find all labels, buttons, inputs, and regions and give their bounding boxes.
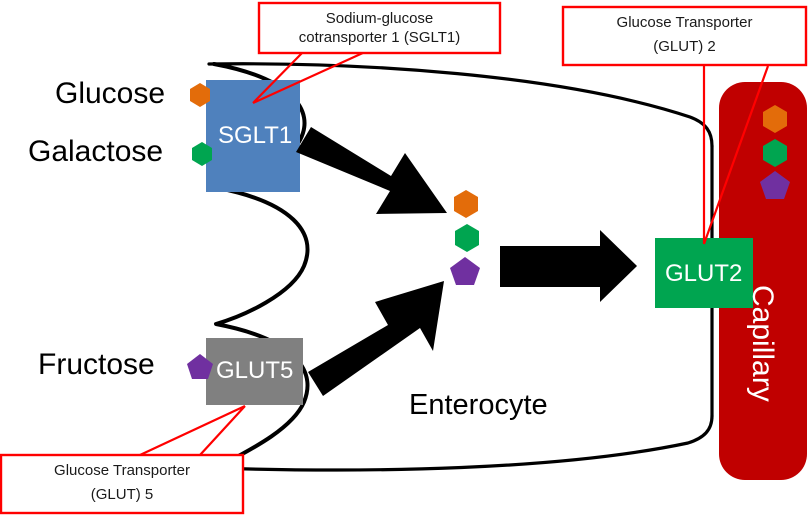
transporter-label-sglt1: SGLT1 (218, 122, 292, 150)
transporter-label-glut5: GLUT5 (216, 357, 293, 385)
substrate-label-fructose: Fructose (38, 348, 155, 382)
glut2-callout-line1: Glucose Transporter (565, 13, 804, 33)
sglt1-callout-line1: Sodium-glucose (261, 9, 498, 29)
transporter-label-glut2: GLUT2 (665, 260, 742, 288)
arrow-cytosol-to-glut2 (500, 230, 637, 302)
arrow-glut5-to-cytosol (308, 281, 444, 396)
glut2-callout-line2: (GLUT) 2 (565, 37, 804, 57)
glut5-callout-line1: Glucose Transporter (3, 461, 241, 481)
substrate-label-galactose: Galactose (28, 135, 163, 169)
diagram-canvas: Glucose Galactose Fructose SGLT1 GLUT5 G… (0, 0, 809, 515)
fructose-molecule-cytosol (450, 257, 480, 285)
sglt1-callout-leader (253, 52, 365, 103)
glut5-callout-leader (140, 406, 245, 455)
galactose-molecule-cytosol (455, 224, 479, 252)
cell-label-enterocyte: Enterocyte (409, 389, 548, 422)
arrow-sglt1-to-cytosol (296, 127, 447, 214)
glucose-molecule-cytosol (454, 190, 478, 218)
capillary-label: Capillary (745, 285, 779, 395)
sglt1-callout-line2: cotransporter 1 (SGLT1) (261, 28, 498, 48)
substrate-label-glucose: Glucose (55, 77, 165, 111)
glut5-callout-line2: (GLUT) 5 (3, 485, 241, 505)
